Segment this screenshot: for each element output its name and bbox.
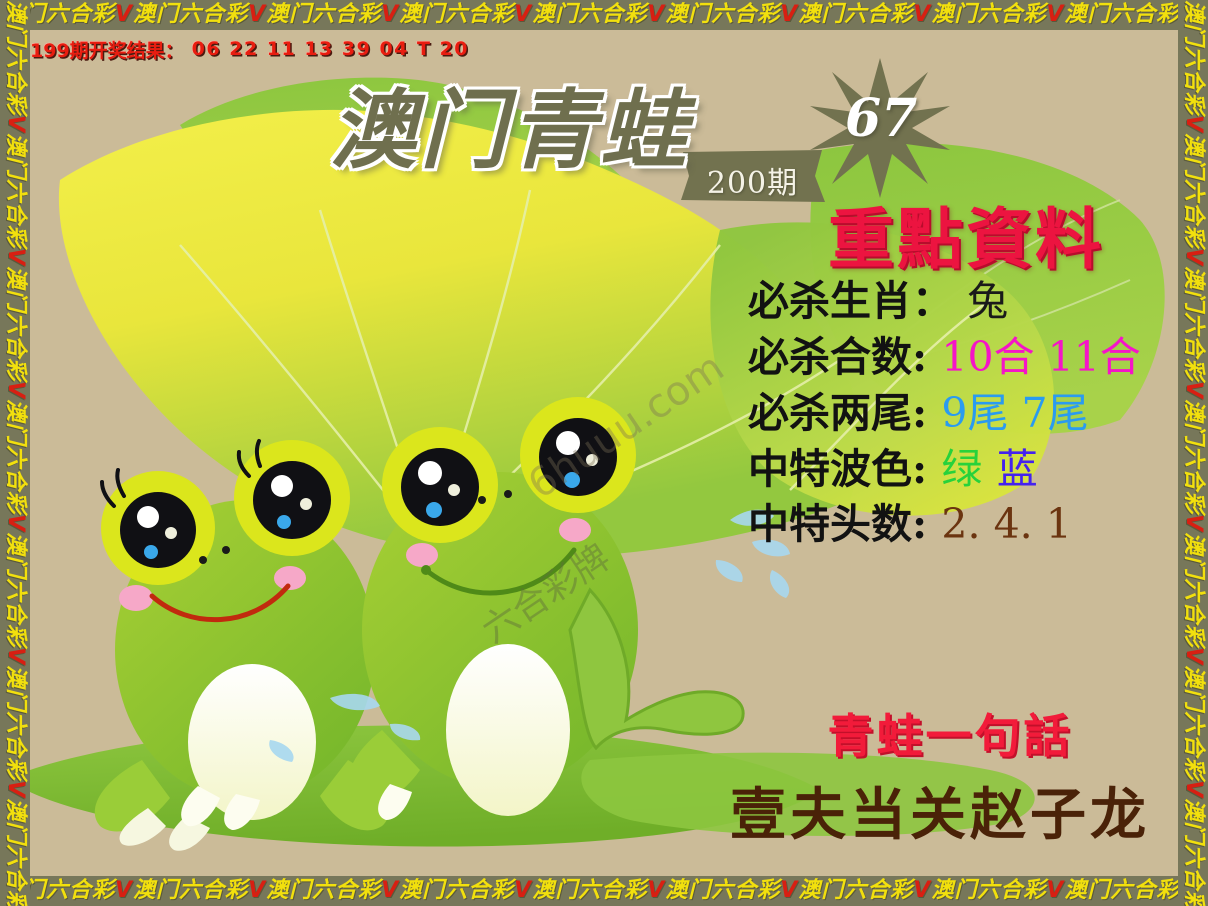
row-value: 2. 4. 1	[941, 500, 1071, 548]
issue-label: 200期	[675, 158, 830, 202]
info-row: 必杀生肖： 兔	[748, 274, 1200, 330]
result-label: 199期开奖结果：	[30, 36, 184, 63]
info-row: 中特头数: 2. 4. 1	[748, 497, 1200, 553]
result-header: 199期开奖结果： 06 22 11 13 39 04 T 20	[30, 36, 469, 62]
result-numbers: 06 22 11 13 39 04 T 20	[192, 38, 469, 60]
frog-left	[95, 440, 389, 851]
border-strip-left: 澳门六合彩V澳门六合彩V澳门六合彩V澳门六合彩V澳门六合彩V澳门六合彩V澳门六合…	[0, 0, 30, 906]
page-title: 澳门青蛙	[330, 60, 690, 185]
row-label: 必杀生肖：	[748, 277, 953, 325]
panel-heading: 重點資料	[732, 205, 1200, 274]
border-top: 澳门六合彩V澳门六合彩V澳门六合彩V澳门六合彩V澳门六合彩V澳门六合彩V澳门六合…	[0, 0, 1208, 30]
border-left: 澳门六合彩V澳门六合彩V澳门六合彩V澳门六合彩V澳门六合彩V澳门六合彩V澳门六合…	[0, 0, 30, 906]
border-right: 澳门六合彩V澳门六合彩V澳门六合彩V澳门六合彩V澳门六合彩V澳门六合彩V澳门六合…	[1178, 0, 1208, 906]
info-panel: 重點資料 必杀生肖： 兔 必杀合数: 10合 11合 必杀两尾: 9尾 7尾 中…	[700, 205, 1200, 553]
info-row: 中特波色: 绿 蓝	[748, 442, 1200, 498]
border-strip-bottom: 澳门六合彩V澳门六合彩V澳门六合彩V澳门六合彩V澳门六合彩V澳门六合彩V澳门六合…	[0, 876, 1208, 906]
row-value: 10合 11合	[941, 333, 1140, 381]
row-value-green: 绿	[941, 445, 982, 493]
border-strip-right: 澳门六合彩V澳门六合彩V澳门六合彩V澳门六合彩V澳门六合彩V澳门六合彩V澳门六合…	[1178, 0, 1208, 906]
phrase-body: 壹夫当关赵子龙	[680, 770, 1200, 851]
row-label: 中特头数:	[748, 500, 927, 548]
border-bottom: 澳门六合彩V澳门六合彩V澳门六合彩V澳门六合彩V澳门六合彩V澳门六合彩V澳门六合…	[0, 876, 1208, 906]
row-value-blue: 蓝	[997, 445, 1038, 493]
row-value: 9尾 7尾	[941, 389, 1088, 437]
row-label: 必杀合数:	[748, 333, 927, 381]
row-label: 必杀两尾:	[748, 389, 927, 437]
lottery-poster: 199期开奖结果： 06 22 11 13 39 04 T 20 67 200期…	[0, 0, 1208, 906]
burst-number: 67	[845, 88, 917, 149]
phrase-heading: 青蛙一句話	[700, 700, 1200, 766]
row-value: 兔	[967, 277, 1008, 325]
info-row: 必杀两尾: 9尾 7尾	[748, 386, 1200, 442]
border-strip-top: 澳门六合彩V澳门六合彩V澳门六合彩V澳门六合彩V澳门六合彩V澳门六合彩V澳门六合…	[0, 0, 1208, 30]
info-row: 必杀合数: 10合 11合	[748, 330, 1200, 386]
row-label: 中特波色:	[748, 445, 927, 493]
